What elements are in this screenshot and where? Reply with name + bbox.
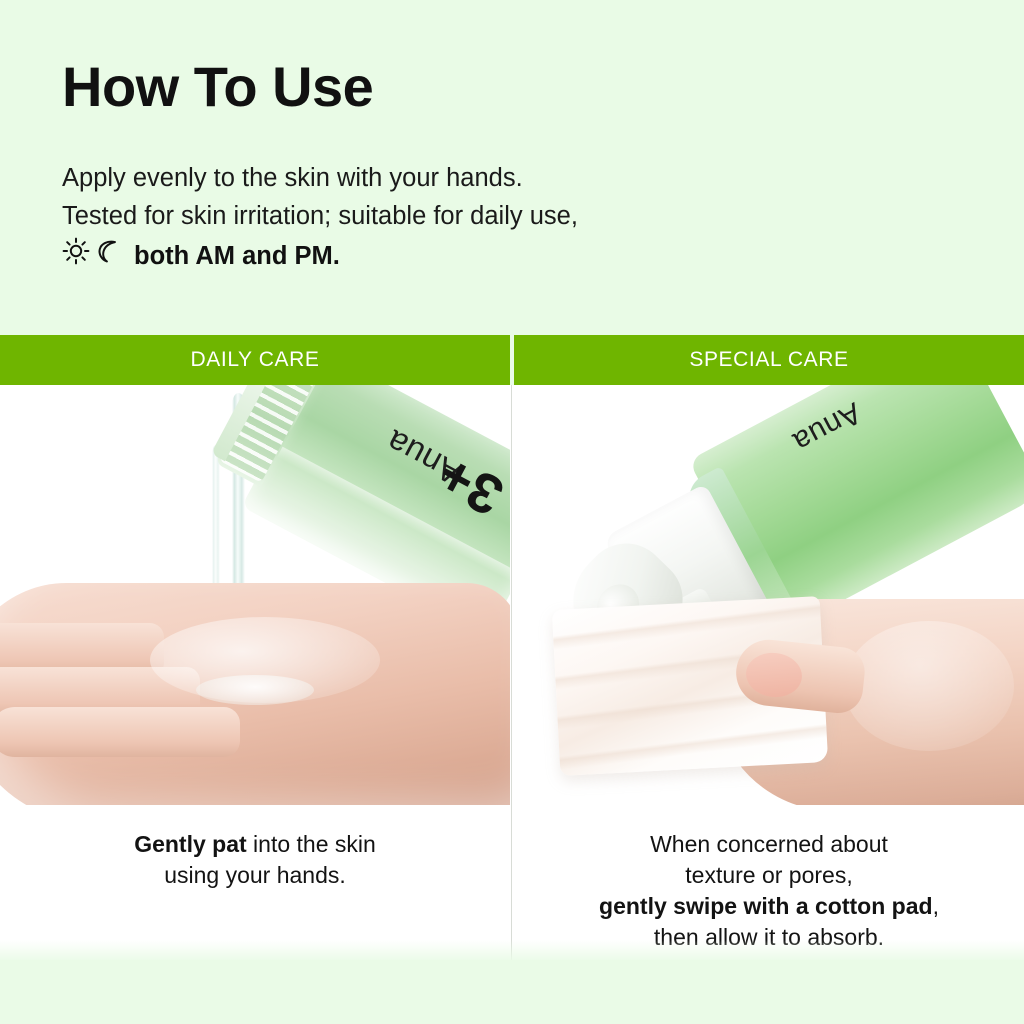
caption-line: When concerned about [650, 829, 888, 860]
category-label-special-care: SPECIAL CARE [514, 335, 1024, 385]
hand-highlight [844, 621, 1014, 751]
header-section: How To Use Apply evenly to the skin with… [0, 0, 1024, 335]
caption-rest: using your hands. [164, 862, 346, 888]
am-pm-label: both AM and PM. [134, 237, 340, 275]
panels-section: Anua 3+ Gently pat into the skin using y… [0, 385, 1024, 960]
caption-line: Gently pat into the skin [134, 829, 376, 860]
caption-special-care: When concerned about texture or pores, g… [514, 805, 1024, 960]
caption-rest: texture or pores, [685, 862, 852, 888]
caption-line: gently swipe with a cotton pad, [599, 891, 939, 922]
caption-bold: gently swipe with a cotton pad [599, 893, 933, 919]
page-title: How To Use [62, 58, 1024, 117]
category-bar: DAILY CARE SPECIAL CARE [0, 335, 1024, 385]
panel-special-care: Anua When concerned about texture or por… [514, 385, 1024, 960]
liquid-pool-in-palm [196, 675, 314, 705]
intro-text-block: Apply evenly to the skin with your hands… [62, 159, 1024, 276]
panel-daily-care: Anua 3+ Gently pat into the skin using y… [0, 385, 510, 960]
how-to-use-infographic: How To Use Apply evenly to the skin with… [0, 0, 1024, 1024]
caption-line: using your hands. [164, 860, 346, 891]
intro-line-2: Tested for skin irritation; suitable for… [62, 197, 1024, 235]
caption-rest: , [933, 893, 939, 919]
finger-ring [0, 707, 240, 757]
caption-rest: When concerned about [650, 831, 888, 857]
am-pm-line: both AM and PM. [62, 237, 1024, 276]
category-label-daily-care: DAILY CARE [0, 335, 510, 385]
caption-bold: Gently pat [134, 831, 246, 857]
photo-pour-into-palm: Anua 3+ [0, 385, 510, 805]
photo-cotton-pad-in-hand: Anua [514, 385, 1024, 805]
footer-strip [0, 960, 1024, 1024]
caption-line: texture or pores, [685, 860, 852, 891]
sun-icon [62, 237, 90, 276]
intro-line-1: Apply evenly to the skin with your hands… [62, 159, 1024, 197]
caption-rest: into the skin [247, 831, 376, 857]
card-bottom-fade [0, 940, 1024, 962]
caption-daily-care: Gently pat into the skin using your hand… [0, 805, 510, 960]
crescent-moon-icon [94, 237, 122, 276]
